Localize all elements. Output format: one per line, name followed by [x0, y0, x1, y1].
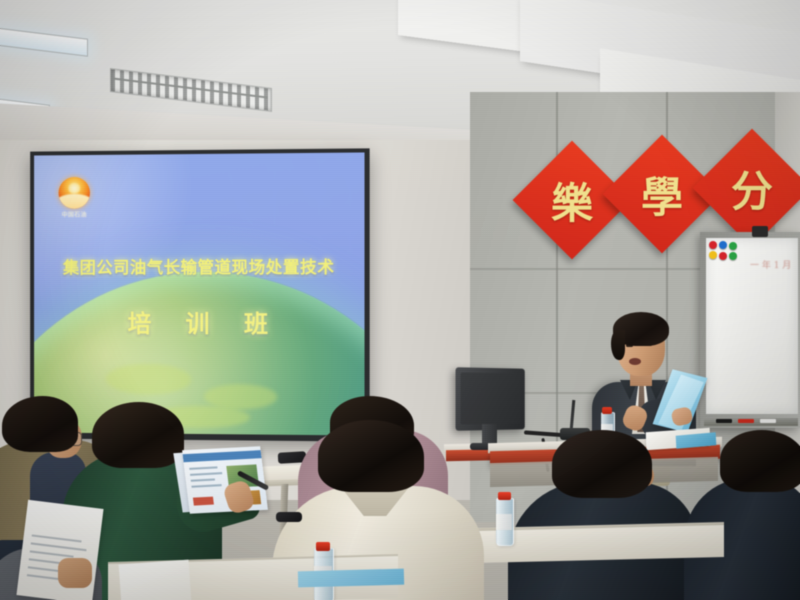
- document-text-line: [32, 534, 82, 542]
- globe-landmass: [106, 364, 191, 395]
- slide-title: 集团公司油气长输管道现场处置技术: [34, 254, 364, 279]
- brochure-header-band: [183, 450, 262, 462]
- magnet-green[interactable]: [729, 252, 737, 260]
- logo-sun-shape: [68, 183, 81, 194]
- water-bottle-cap: [602, 407, 612, 414]
- banner-2: 學: [620, 152, 704, 236]
- classroom-photo-scene: 樂 學 分 一 年 1 月: [0, 0, 800, 600]
- blue-document[interactable]: [298, 569, 404, 588]
- magnet-green[interactable]: [729, 242, 737, 250]
- logo-arc-shape: [59, 193, 90, 208]
- magnet-red[interactable]: [719, 252, 727, 260]
- monitor-back-panel: [461, 372, 521, 424]
- whiteboard-marker-tray: [704, 418, 798, 426]
- magnet-yellow[interactable]: [709, 251, 717, 259]
- brochure-text-line: [189, 466, 217, 469]
- attendee-hair: [2, 396, 78, 452]
- banner-character: 樂: [530, 158, 614, 242]
- brochure-text-line: [191, 479, 215, 482]
- document-text-line: [30, 550, 74, 557]
- presenter-mouth: [629, 358, 641, 365]
- petrochina-sun-icon: [59, 177, 90, 209]
- brochure-text-line: [190, 472, 222, 476]
- banner-character: 分: [710, 146, 794, 230]
- water-bottle-cap: [316, 542, 330, 551]
- attendee-hair: [318, 420, 424, 492]
- water-bottle-cap: [498, 492, 511, 500]
- paper-handout[interactable]: [119, 560, 192, 600]
- projection-screen-frame: 中国石油 集团公司油气长输管道现场处置技术 培 训 班: [30, 148, 369, 441]
- brochure-accent: [193, 497, 214, 506]
- presentation-remote[interactable]: [276, 512, 302, 522]
- magnet-blue[interactable]: [719, 241, 727, 249]
- brochure-text-line: [191, 484, 221, 488]
- whiteboard-surface[interactable]: 一 年 1 月: [706, 238, 798, 414]
- document-text-line: [31, 542, 87, 550]
- presenter-hair-sideburn: [611, 330, 625, 360]
- banner-character: 學: [620, 152, 704, 236]
- attendee-hair: [720, 430, 800, 492]
- attendee-hand: [58, 558, 92, 588]
- banner-1: 樂: [530, 158, 614, 242]
- petrochina-logo: 中国石油: [56, 177, 93, 223]
- projection-screen: 中国石油 集团公司油气长输管道现场处置技术 培 训 班: [34, 152, 364, 435]
- attendee-hair: [552, 430, 652, 498]
- banner-3: 分: [710, 146, 794, 230]
- lcd-monitor[interactable]: [456, 367, 525, 431]
- slide-subtitle: 培 训 班: [34, 304, 364, 340]
- petrochina-wordmark: 中国石油: [56, 210, 93, 219]
- water-bottle-label: [496, 514, 512, 530]
- whiteboard-note: 一 年 1 月: [750, 260, 794, 290]
- magnet-red[interactable]: [709, 241, 717, 249]
- globe-landmass: [204, 384, 277, 410]
- fluorescent-light-panel: [0, 25, 88, 57]
- air-vent-grille: [110, 68, 272, 112]
- whiteboard-clip[interactable]: [752, 226, 768, 237]
- marker-black[interactable]: [716, 419, 732, 423]
- eraser[interactable]: [760, 419, 776, 423]
- marker-red[interactable]: [738, 419, 754, 423]
- attendee-hair: [92, 402, 184, 468]
- whiteboard-frame: 一 年 1 月: [700, 232, 800, 428]
